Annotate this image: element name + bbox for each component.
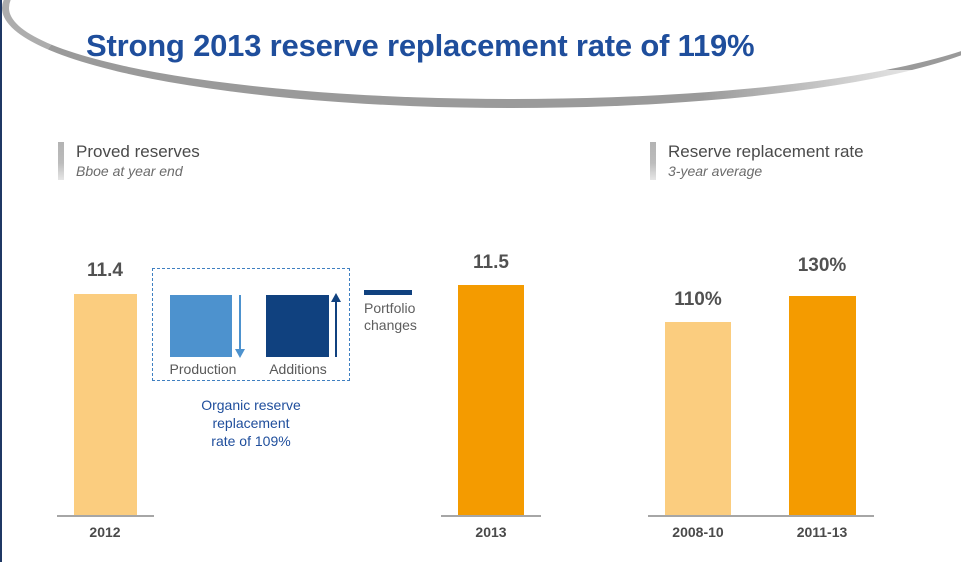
organic-note-line-3: rate of 109% — [152, 432, 350, 450]
additions-swatch — [266, 295, 329, 357]
bar-value-2013: 11.5 — [441, 252, 541, 274]
portfolio-changes-legend-label: Portfolio changes — [364, 300, 434, 334]
organic-replacement-callout-box: Production Additions — [152, 268, 350, 381]
bar-value-2008-10: 110% — [648, 289, 748, 311]
left-section-subtitle: Bboe at year end — [76, 162, 200, 180]
production-swatch — [170, 295, 232, 357]
right-section-subtitle: 3-year average — [668, 162, 864, 180]
portfolio-changes-legend-swatch — [364, 290, 412, 295]
bar-category-2012: 2012 — [55, 524, 155, 540]
bar-category-2008-10: 2008-10 — [648, 524, 748, 540]
right-section-heading: Reserve replacement rate 3-year average — [650, 142, 864, 180]
production-down-arrow-shaft — [239, 295, 241, 352]
bar-category-2011-13: 2011-13 — [772, 524, 872, 540]
additions-up-arrow-shaft — [335, 301, 337, 357]
bar-baseline-2013 — [441, 515, 541, 517]
organic-note-line-1: Organic reserve — [152, 396, 350, 414]
bar-category-2013: 2013 — [441, 524, 541, 540]
additions-up-arrow-icon — [331, 293, 341, 302]
portfolio-changes-legend: Portfolio changes — [364, 290, 434, 334]
bar-2008-10 — [665, 322, 731, 515]
slide-canvas: Strong 2013 reserve replacement rate of … — [0, 0, 961, 562]
header-swoosh-fade — [702, 70, 961, 116]
bar-2011-13 — [789, 296, 856, 515]
bar-baseline-2012 — [57, 515, 154, 517]
portfolio-legend-line-2: changes — [364, 317, 434, 334]
left-section-title: Proved reserves — [76, 142, 200, 162]
production-down-arrow-icon — [235, 349, 245, 358]
bar-2013 — [458, 285, 524, 515]
section-marker-icon — [58, 142, 64, 180]
organic-replacement-note: Organic reserve replacement rate of 109% — [152, 396, 350, 450]
bar-baseline-right-chart — [648, 515, 874, 517]
portfolio-legend-line-1: Portfolio — [364, 300, 434, 317]
left-section-heading: Proved reserves Bboe at year end — [58, 142, 200, 180]
section-marker-icon — [650, 142, 656, 180]
additions-label: Additions — [243, 361, 353, 377]
bar-value-2011-13: 130% — [772, 255, 872, 277]
bar-2012 — [74, 294, 137, 515]
organic-note-line-2: replacement — [152, 414, 350, 432]
right-section-title: Reserve replacement rate — [668, 142, 864, 162]
page-title: Strong 2013 reserve replacement rate of … — [86, 28, 754, 64]
bar-value-2012: 11.4 — [55, 260, 155, 282]
